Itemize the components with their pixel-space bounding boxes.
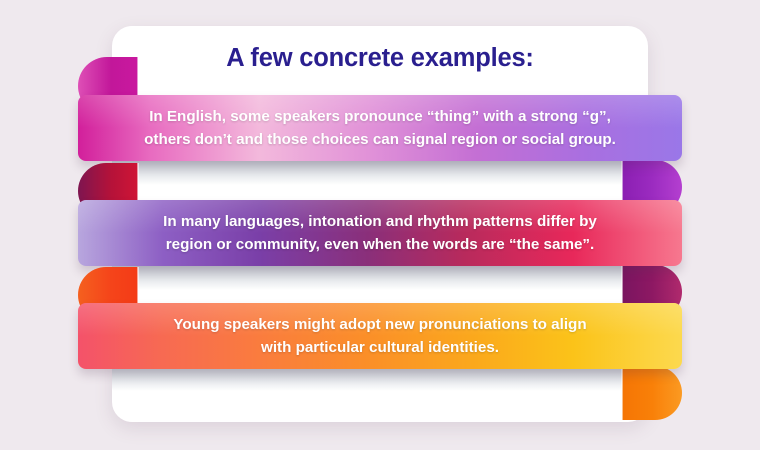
ribbon-3-right-fold bbox=[622, 366, 682, 420]
ribbon-3-band: Young speakers might adopt new pronuncia… bbox=[78, 303, 682, 369]
ribbon-3-line-1: Young speakers might adopt new pronuncia… bbox=[173, 316, 586, 333]
ribbon-3-line-2: with particular cultural identities. bbox=[121, 336, 639, 359]
ribbon-3-text: Young speakers might adopt new pronuncia… bbox=[115, 313, 645, 359]
ribbon-item-3: Young speakers might adopt new pronuncia… bbox=[0, 0, 760, 450]
